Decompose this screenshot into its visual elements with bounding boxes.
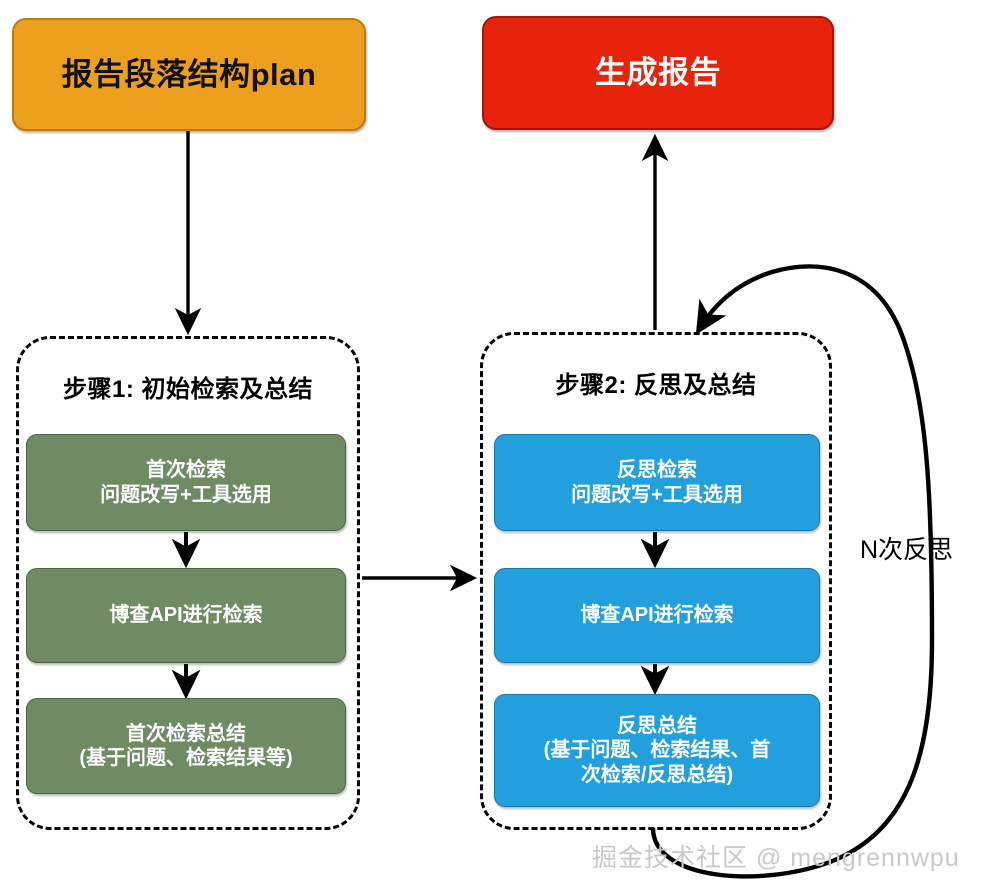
node-step2-reflect-search-line2: 问题改写+工具选用 — [571, 483, 743, 507]
node-step2-bocha-api-line1: 博查API进行检索 — [580, 603, 733, 627]
node-step1-first-search[interactable]: 首次检索 问题改写+工具选用 — [26, 434, 346, 531]
node-step1-bocha-api-line1: 博查API进行检索 — [109, 603, 262, 627]
node-report-plan-label: 报告段落结构plan — [62, 56, 317, 94]
node-step2-summary[interactable]: 反思总结 (基于问题、检索结果、首 次检索/反思总结) — [494, 694, 820, 807]
node-step1-summary-line1: 首次检索总结 — [126, 722, 246, 746]
node-generate-report-label: 生成报告 — [595, 54, 721, 92]
node-step2-reflect-search-line1: 反思检索 — [617, 458, 697, 482]
node-step2-bocha-api[interactable]: 博查API进行检索 — [494, 568, 820, 663]
node-step2-summary-line3: 次检索/反思总结) — [581, 763, 733, 787]
node-step2-summary-line2: (基于问题、检索结果、首 — [544, 738, 771, 762]
watermark-text: 掘金技术社区 @ mengrennwpu — [592, 838, 960, 874]
group-step1-title: 步骤1: 初始检索及总结 — [19, 369, 357, 404]
flowchart-canvas: 报告段落结构plan 生成报告 步骤1: 初始检索及总结 首次检索 问题改写+工… — [0, 0, 992, 886]
node-step1-first-search-line2: 问题改写+工具选用 — [100, 483, 272, 507]
node-generate-report[interactable]: 生成报告 — [482, 16, 834, 130]
node-step2-reflect-search[interactable]: 反思检索 问题改写+工具选用 — [494, 434, 820, 531]
node-step1-first-search-line1: 首次检索 — [146, 458, 226, 482]
loop-edge-label: N次反思 — [860, 530, 953, 566]
group-step2-title: 步骤2: 反思及总结 — [483, 365, 829, 400]
node-step1-summary-line2: (基于问题、检索结果等) — [79, 746, 292, 770]
node-step2-summary-line1: 反思总结 — [617, 714, 697, 738]
node-step1-bocha-api[interactable]: 博查API进行检索 — [26, 568, 346, 663]
node-step1-summary[interactable]: 首次检索总结 (基于问题、检索结果等) — [26, 698, 346, 794]
node-report-plan[interactable]: 报告段落结构plan — [12, 18, 366, 131]
